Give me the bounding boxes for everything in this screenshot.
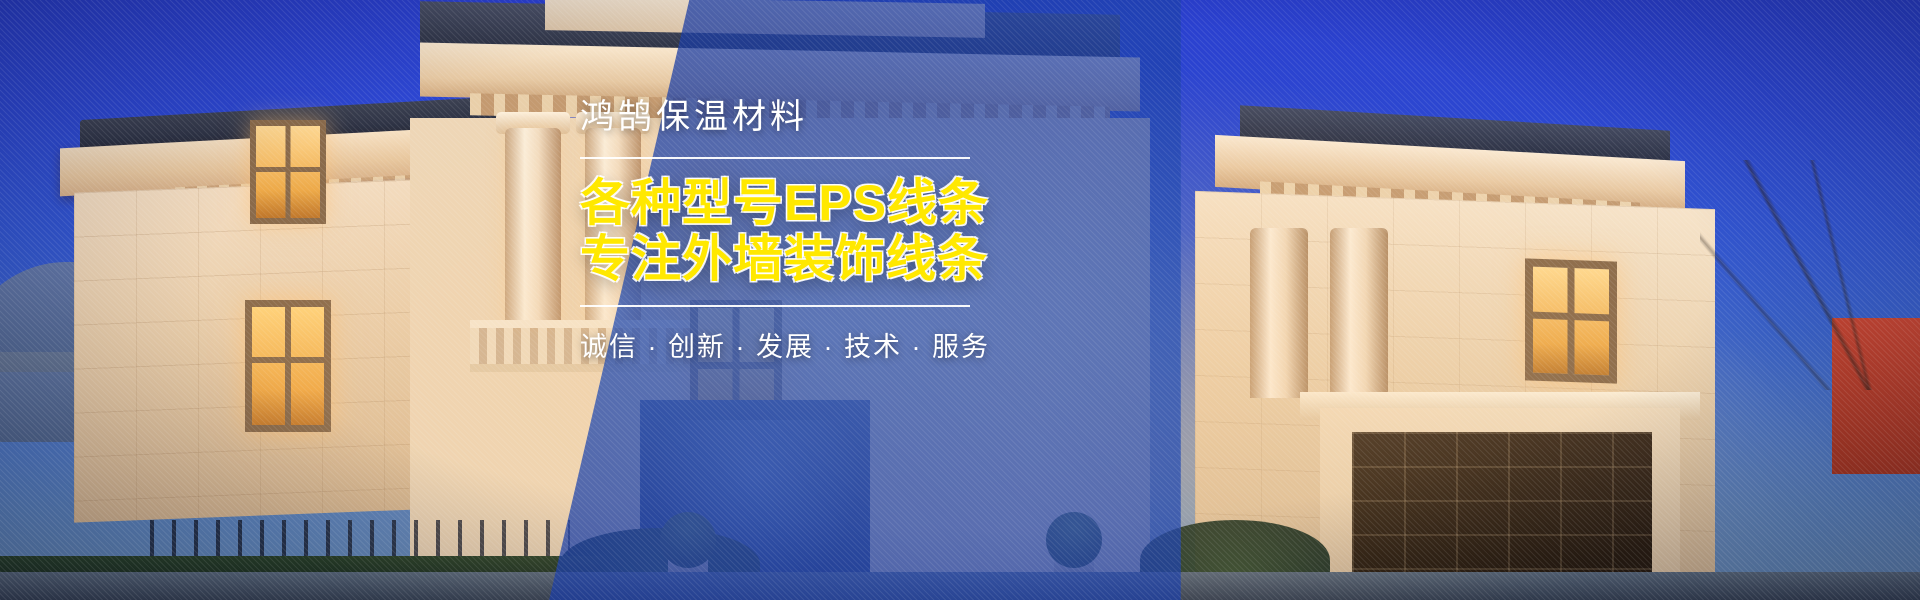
ground-plane [0, 572, 1920, 600]
window-mullion-vertical [1568, 268, 1575, 374]
tree-branches [1700, 160, 1920, 390]
divider-top [580, 157, 970, 159]
right-window [1525, 258, 1617, 383]
right-column [1250, 228, 1308, 398]
right-column [1330, 228, 1388, 398]
window-mullion-vertical [285, 307, 291, 425]
window-mullion-horizontal [252, 357, 324, 363]
headline-line-2: 专注外墙装饰线条 [580, 231, 1000, 287]
left-lower-window [245, 300, 331, 432]
headline-line-1: 各种型号EPS线条 [580, 175, 1000, 231]
tagline: 诚信 · 创新 · 发展 · 技术 · 服务 [580, 325, 1000, 364]
promo-banner: 鸿鹄保温材料 各种型号EPS线条 专注外墙装饰线条 诚信 · 创新 · 发展 ·… [0, 0, 1920, 600]
banner-copy: 鸿鹄保温材料 各种型号EPS线条 专注外墙装饰线条 诚信 · 创新 · 发展 ·… [580, 96, 1000, 364]
window-mullion-horizontal [1533, 311, 1609, 321]
center-column [505, 128, 561, 328]
potted-plant [1046, 512, 1102, 568]
brand-name: 鸿鹄保温材料 [580, 96, 1000, 139]
divider-bottom [580, 305, 970, 307]
window-mullion-horizontal [256, 167, 320, 172]
left-upper-window [250, 120, 326, 224]
potted-plant [660, 512, 716, 568]
